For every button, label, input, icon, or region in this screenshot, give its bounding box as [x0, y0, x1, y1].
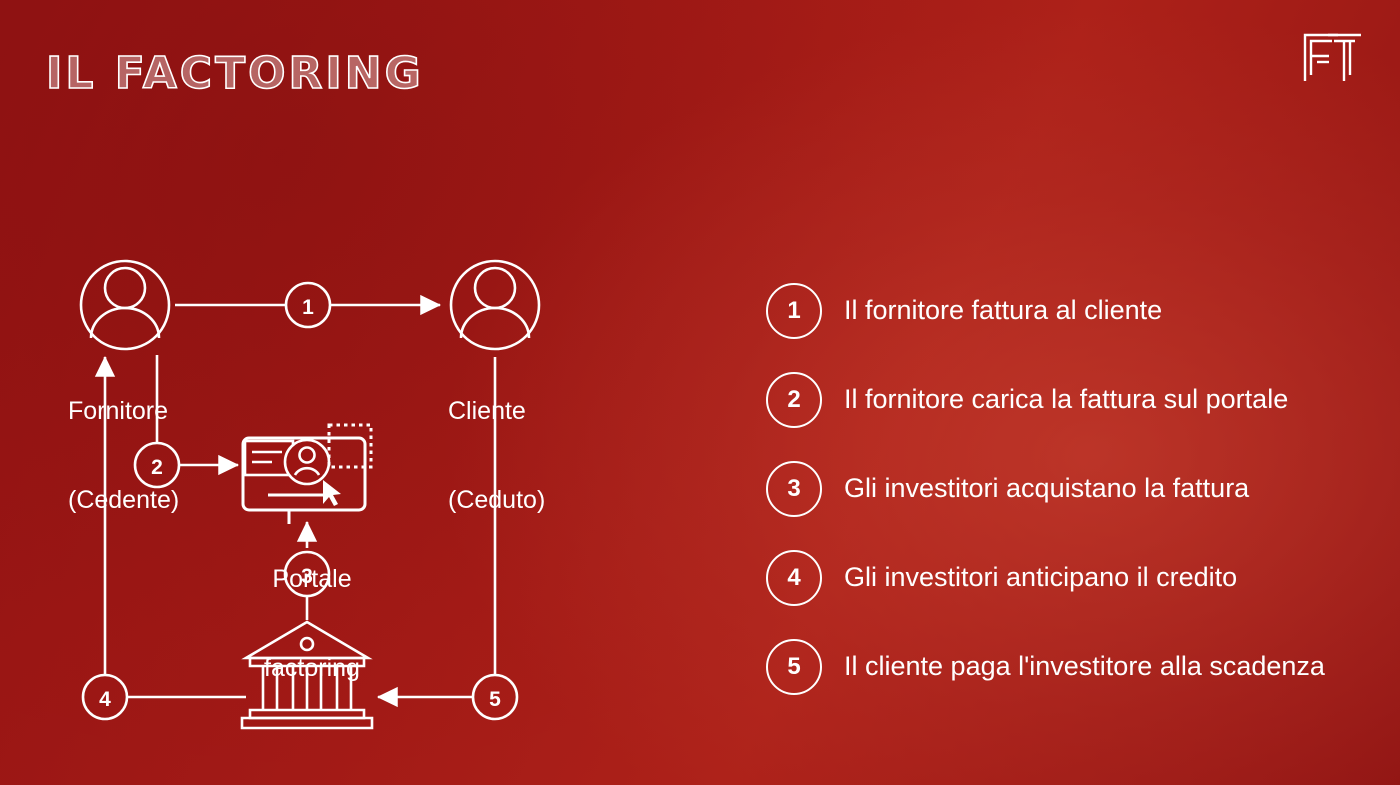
svg-text:1: 1: [302, 296, 314, 319]
supplier-label-line2: (Cedente): [68, 486, 179, 516]
step-number-badge: 2: [766, 372, 822, 428]
list-item: 4 Gli investitori anticipano il credito: [766, 533, 1366, 622]
client-label: Cliente (Ceduto): [448, 338, 545, 574]
step-text: Il cliente paga l'investitore alla scade…: [844, 651, 1325, 682]
svg-text:5: 5: [489, 688, 501, 711]
client-label-line2: (Ceduto): [448, 486, 545, 516]
client-label-line1: Cliente: [448, 397, 545, 427]
page-title: IL FACTORING: [46, 52, 424, 96]
list-item: 3 Gli investitori acquistano la fattura: [766, 444, 1366, 533]
step-number-badge: 4: [766, 550, 822, 606]
portal-label: Portale factoring: [252, 506, 372, 742]
step-number-badge: 3: [766, 461, 822, 517]
supplier-label: Fornitore (Cedente): [68, 338, 179, 574]
supplier-person-icon: [81, 261, 169, 349]
list-item: 1 Il fornitore fattura al cliente: [766, 266, 1366, 355]
step-text: Gli investitori anticipano il credito: [844, 562, 1237, 593]
steps-list: 1 Il fornitore fattura al cliente 2 Il f…: [766, 266, 1366, 711]
supplier-label-line1: Fornitore: [68, 397, 179, 427]
list-item: 2 Il fornitore carica la fattura sul por…: [766, 355, 1366, 444]
step-text: Gli investitori acquistano la fattura: [844, 473, 1249, 504]
portal-label-line2: factoring: [252, 654, 372, 684]
step-number-badge: 5: [766, 639, 822, 695]
step-number-badge: 1: [766, 283, 822, 339]
portal-label-line1: Portale: [252, 565, 372, 595]
factoring-flow-diagram: 1 2: [0, 150, 640, 770]
svg-text:4: 4: [99, 688, 111, 711]
list-item: 5 Il cliente paga l'investitore alla sca…: [766, 622, 1366, 711]
infographic-canvas: IL FACTORING: [0, 0, 1400, 785]
ft-logo-icon: [1302, 30, 1364, 84]
step-text: Il fornitore carica la fattura sul porta…: [844, 384, 1288, 415]
client-person-icon: [451, 261, 539, 349]
step-text: Il fornitore fattura al cliente: [844, 295, 1162, 326]
